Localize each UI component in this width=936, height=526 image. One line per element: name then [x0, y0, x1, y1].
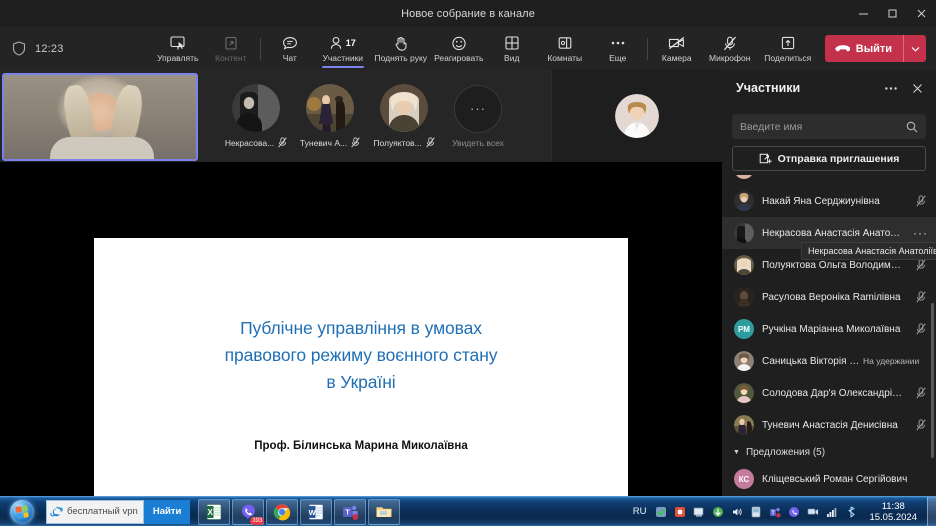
- participant-name: Кліщевський Роман Сергійович: [762, 474, 928, 485]
- toolbar-rooms[interactable]: Комнаты: [536, 27, 594, 70]
- participants-panel: Участники Отправка приглашения: [722, 70, 936, 496]
- excel-icon: X: [205, 503, 223, 521]
- toolbar-raise-hand[interactable]: Поднять руку: [372, 27, 430, 70]
- avatar: [615, 94, 659, 138]
- toolbar-more-label: Еще: [609, 53, 626, 63]
- participant-thumb-1-name: Некрасова...: [225, 138, 274, 148]
- microphone-off-icon: [426, 137, 435, 148]
- participant-row-partial: [722, 175, 936, 185]
- word-icon: W: [307, 503, 325, 521]
- raise-hand-icon: [394, 35, 408, 52]
- hangup-icon: [835, 44, 850, 53]
- participant-thumb-3-row: Полуяктов...: [373, 137, 434, 148]
- signal-icon[interactable]: [825, 505, 839, 519]
- find-button[interactable]: Найти: [144, 500, 190, 524]
- avatar: [306, 84, 354, 132]
- avatar: [380, 84, 428, 132]
- emoji-icon: [451, 35, 467, 52]
- slide-title: Публічне управління в умовах правового р…: [94, 315, 628, 396]
- avatar: [734, 191, 754, 211]
- toolbar-chat[interactable]: Чат: [266, 27, 314, 70]
- taskbar-apps: X 393 W T: [198, 499, 400, 525]
- microphone-off-icon: [723, 35, 737, 52]
- close-icon[interactable]: [906, 77, 928, 99]
- taskbar-app-word[interactable]: W: [300, 499, 332, 525]
- see-all-button[interactable]: ··· Увидеть всех: [452, 85, 504, 148]
- participants-panel-header: Участники: [722, 70, 936, 106]
- grid-view-icon: [505, 35, 519, 52]
- avatar: [734, 383, 754, 403]
- toolbar-manage[interactable]: Управлять: [149, 27, 207, 70]
- toolbar-participants-label: Участники: [322, 53, 363, 63]
- participants-panel-title: Участники: [736, 81, 876, 95]
- self-video-decor-body: [50, 137, 154, 159]
- participants-search[interactable]: [732, 114, 926, 139]
- participant-name: Накай Яна Серджиунівна: [762, 196, 906, 207]
- taskbar-app-viber[interactable]: 393: [232, 499, 264, 525]
- system-tray: RU T 11:38 15.05.2024: [633, 501, 927, 523]
- taskbar-clock[interactable]: 11:38 15.05.2024: [863, 501, 923, 523]
- toolbar-divider-2: [647, 38, 648, 60]
- avatar: РМ: [734, 319, 754, 339]
- participant-name: Ручкіна Маріанна Миколаївна: [762, 324, 906, 335]
- microphone-off-icon[interactable]: [914, 259, 928, 271]
- participant-thumb-2-row: Туневич А...: [300, 137, 360, 148]
- start-orb-glyph: [10, 500, 34, 524]
- participant-name: Полуяктова Ольга Володимирі...: [762, 260, 906, 271]
- ie-search-text: бесплатный vpn: [67, 506, 138, 517]
- participant-thumb-1[interactable]: Некрасова...: [230, 84, 282, 148]
- participant-status-badge: На удержании: [863, 356, 919, 366]
- title-bar: Новое собрание в канале: [0, 0, 936, 27]
- meeting-timer: 12:23: [35, 43, 64, 55]
- toolbar-microphone-label: Микрофон: [709, 53, 750, 63]
- microphone-off-icon: [351, 137, 360, 148]
- participant-thumbnails: Некрасова... Туневич А...: [230, 84, 504, 148]
- participant-thumb-2[interactable]: Туневич А...: [304, 84, 356, 148]
- secondary-video-pane[interactable]: [551, 70, 722, 162]
- microphone-off-icon[interactable]: [914, 387, 928, 399]
- toolbar-camera[interactable]: Камера: [653, 27, 701, 70]
- participant-row-0[interactable]: Накай Яна Серджиунівна: [722, 185, 936, 217]
- maximize-icon[interactable]: [878, 0, 907, 27]
- participant-thumb-3-name: Полуяктов...: [373, 138, 421, 148]
- participants-group-header[interactable]: ▼ Предложения (5): [722, 441, 936, 463]
- microphone-off-icon[interactable]: [914, 323, 928, 335]
- table-row[interactable]: [722, 175, 936, 185]
- bluetooth-icon[interactable]: [844, 505, 858, 519]
- language-indicator[interactable]: RU: [633, 506, 647, 517]
- participant-row-3[interactable]: Расулова Вероніка Ramілівна: [722, 281, 936, 313]
- participant-thumb-1-row: Некрасова...: [225, 137, 287, 148]
- slide-title-line-1: Публічне управління в умовах: [108, 315, 614, 342]
- slide-title-line-3: в Україні: [108, 369, 614, 396]
- toolbar-react[interactable]: Реагировать: [430, 27, 488, 70]
- participant-row-5[interactable]: Саницька Вікторія Лео... На удержании: [722, 345, 936, 377]
- toolbar-manage-label: Управлять: [157, 53, 198, 63]
- see-all-label: Увидеть всех: [452, 138, 504, 148]
- content-share-icon: [224, 35, 238, 52]
- start-orb-icon[interactable]: [0, 497, 44, 526]
- toolbar-chat-label: Чат: [283, 53, 297, 63]
- teams-tray-icon[interactable]: T: [768, 505, 782, 519]
- chrome-icon: [273, 503, 291, 521]
- participant-row-7[interactable]: Туневич Анастасія Денисівна: [722, 409, 936, 441]
- participant-tooltip: Некрасова Анастасія Анатоліївна: [801, 242, 936, 260]
- camera-off-icon: [668, 35, 686, 52]
- participant-name: Расулова Вероніка Ramілівна: [762, 292, 906, 303]
- toolbar-camera-label: Камера: [662, 53, 692, 63]
- viber-badge: 393: [250, 517, 264, 525]
- avatar: [734, 255, 754, 275]
- participants-scrollbar[interactable]: [931, 303, 934, 458]
- participant-name: Солодова Дар'я Олександрівна: [762, 388, 906, 399]
- participant-name: Саницька Вікторія Лео...: [762, 356, 860, 367]
- participant-row-6[interactable]: Солодова Дар'я Олександрівна: [722, 377, 936, 409]
- avatar: [734, 351, 754, 371]
- leave-options-chevron-down-icon[interactable]: [904, 35, 926, 62]
- people-icon: 17: [330, 35, 356, 52]
- taskbar-app-chrome[interactable]: [266, 499, 298, 525]
- network-drive-icon[interactable]: [692, 505, 706, 519]
- toolbar-share-label: Поделиться: [764, 53, 811, 63]
- antivirus-icon[interactable]: [654, 505, 668, 519]
- avatar-initials: РМ: [738, 325, 750, 334]
- slide-title-line-2: правового режиму воєнного стану: [108, 342, 614, 369]
- window-controls: [849, 0, 936, 27]
- send-invitation-label: Отправка приглашения: [778, 153, 900, 165]
- more-horizontal-icon[interactable]: [880, 77, 902, 99]
- leave-meeting-group: Выйти: [825, 35, 926, 62]
- ie-search-box[interactable]: бесплатный vpn: [46, 500, 144, 524]
- participant-thumb-3[interactable]: Полуяктов...: [378, 84, 430, 148]
- taskbar-app-teams[interactable]: T: [334, 499, 366, 525]
- search-input[interactable]: [740, 121, 900, 133]
- windows-flag-icon: [15, 505, 29, 519]
- toolbar-view[interactable]: Вид: [488, 27, 536, 70]
- window-title: Новое собрание в канале: [401, 8, 535, 20]
- teams-meeting-window: Новое собрание в канале 12:23: [0, 0, 936, 526]
- folder-icon: [375, 503, 393, 521]
- slide-author: Проф. Білинська Марина Миколаївна: [94, 440, 628, 452]
- microphone-off-icon[interactable]: [914, 291, 928, 303]
- microphone-off-icon[interactable]: [914, 195, 928, 207]
- toolbar-divider-1: [260, 38, 261, 60]
- toolbar-react-label: Реагировать: [434, 53, 483, 63]
- avatar: [734, 415, 754, 435]
- shared-content-area: Публічне управління в умовах правового р…: [0, 162, 722, 496]
- toolbar-participants[interactable]: 17 Участники: [314, 27, 372, 70]
- more-horizontal-icon: [610, 35, 626, 52]
- chevron-down-icon: ▼: [733, 449, 740, 456]
- search-icon: [906, 121, 918, 133]
- send-invitation-button[interactable]: Отправка приглашения: [732, 146, 926, 171]
- presentation-slide[interactable]: Публічне управління в умовах правового р…: [94, 238, 628, 526]
- leave-button-label: Выйти: [856, 43, 892, 55]
- internet-explorer-icon: [50, 505, 63, 518]
- update-icon[interactable]: [711, 505, 725, 519]
- avatar: [734, 223, 754, 243]
- breakout-rooms-icon: [558, 35, 572, 52]
- windows-taskbar: бесплатный vpn Найти X 393 W T: [0, 496, 936, 526]
- device-icon[interactable]: [749, 505, 763, 519]
- chat-icon: [282, 35, 298, 52]
- leave-button[interactable]: Выйти: [825, 35, 903, 62]
- share-screen-icon: [781, 35, 795, 52]
- toolbar-view-label: Вид: [504, 53, 519, 63]
- toolbar-raise-hand-label: Поднять руку: [374, 53, 427, 63]
- viber-tray-icon[interactable]: [787, 505, 801, 519]
- more-horizontal-icon[interactable]: ···: [913, 226, 928, 240]
- svg-text:W: W: [309, 508, 317, 517]
- clock-time: 11:38: [882, 501, 905, 512]
- close-icon[interactable]: [907, 0, 936, 27]
- toolbar-content[interactable]: Контент: [207, 27, 255, 70]
- toolbar-left: 12:23: [0, 41, 149, 56]
- toolbar-rooms-label: Комнаты: [547, 53, 582, 63]
- svg-text:X: X: [208, 508, 214, 517]
- toolbar-content-label: Контент: [215, 53, 247, 63]
- avatar: КС: [734, 469, 754, 489]
- avatar: [734, 287, 754, 307]
- microphone-off-icon: [278, 137, 287, 148]
- self-video-tile[interactable]: [2, 73, 198, 161]
- minimize-icon[interactable]: [849, 0, 878, 27]
- toolbar-microphone[interactable]: Микрофон: [701, 27, 759, 70]
- participant-row-4[interactable]: РМ Ручкіна Маріанна Миколаївна: [722, 313, 936, 345]
- avatar: [734, 175, 754, 179]
- svg-text:T: T: [346, 507, 351, 516]
- volume-icon[interactable]: [730, 505, 744, 519]
- clock-date: 15.05.2024: [869, 512, 917, 523]
- meeting-toolbar: 12:23 Управлять Контент Чат: [0, 27, 936, 70]
- participants-group-label: Предложения (5): [746, 447, 825, 458]
- participant-name: Туневич Анастасія Денисівна: [762, 420, 906, 431]
- teams-icon: T: [341, 503, 359, 521]
- shield-icon: [12, 41, 26, 56]
- toolbar-more[interactable]: Еще: [594, 27, 642, 70]
- add-person-icon: [759, 152, 772, 165]
- participant-thumb-2-name: Туневич А...: [300, 138, 347, 148]
- avatar: [232, 84, 280, 132]
- shield-red-icon[interactable]: [673, 505, 687, 519]
- taskbar-app-explorer[interactable]: [368, 499, 400, 525]
- participant-name: Некрасова Анастасія Анатолії...: [762, 228, 905, 239]
- participants-list[interactable]: Накай Яна Серджиунівна Некрасова Анастас…: [722, 175, 936, 496]
- show-desktop-button[interactable]: [927, 497, 936, 526]
- avatar-initials: КС: [739, 475, 750, 484]
- display-icon[interactable]: [806, 505, 820, 519]
- present-screen-icon: [170, 35, 186, 52]
- toolbar-share[interactable]: Поделиться: [759, 27, 817, 70]
- more-horizontal-icon: ···: [454, 85, 502, 133]
- toolbar-center: Управлять Контент Чат 17 У: [149, 27, 817, 70]
- taskbar-app-excel[interactable]: X: [198, 499, 230, 525]
- participant-count: 17: [346, 38, 356, 48]
- participant-group-row-0[interactable]: КС Кліщевський Роман Сергійович: [722, 463, 936, 495]
- meeting-stage: Некрасова... Туневич А...: [0, 70, 722, 496]
- microphone-off-icon[interactable]: [914, 419, 928, 431]
- participant-filmstrip: Некрасова... Туневич А...: [0, 70, 722, 162]
- toolbar-right: Выйти: [817, 35, 936, 62]
